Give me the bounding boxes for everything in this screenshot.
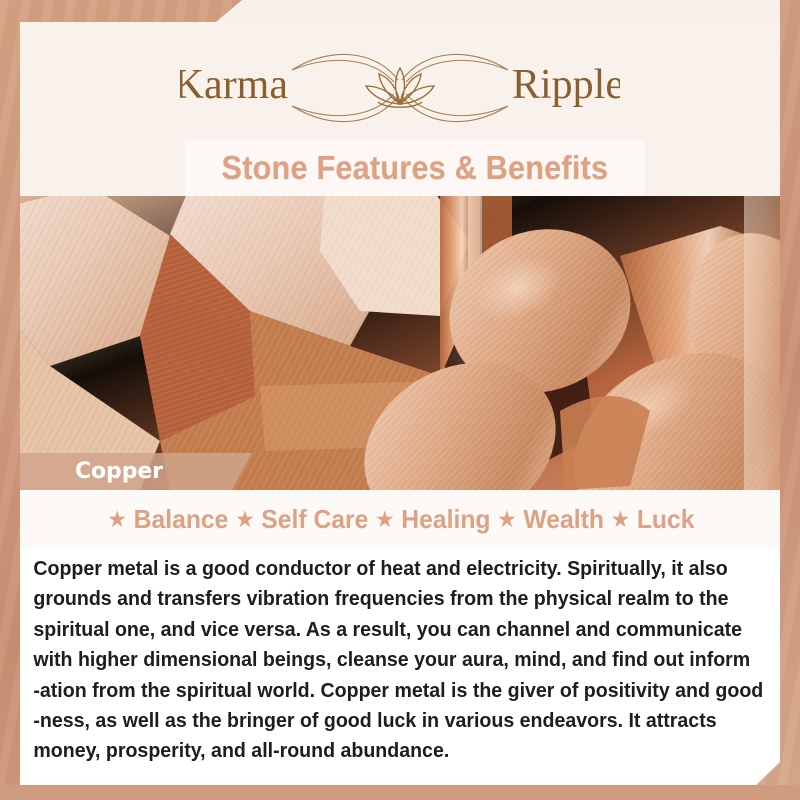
feature-healing: Healing (398, 504, 493, 535)
star-icon: ★ (493, 508, 520, 531)
brand-logo: Karma Ripple (20, 38, 780, 138)
lotus-icon (366, 68, 434, 107)
description-line: with higher dimensional beings, cleanse … (33, 645, 734, 675)
star-icon: ★ (371, 508, 398, 531)
star-icon: ★ (231, 508, 258, 531)
description-line: -ness, as well as the bringer of good lu… (33, 706, 734, 736)
description-line: spiritual one, and vice versa. As a resu… (33, 615, 734, 645)
flourish-ornament (292, 54, 508, 121)
feature-wealth: Wealth (520, 504, 606, 535)
content-card: Karma Ripple Stone Features & Benefits (20, 0, 780, 785)
description-line: money, prosperity, and all-round abundan… (33, 736, 734, 766)
brand-name-left: Karma (180, 62, 288, 108)
copper-photo-svg (20, 196, 780, 490)
brand-name-right: Ripple (512, 62, 620, 108)
title-banner: Stone Features & Benefits (185, 140, 645, 196)
features-strip: ★ Balance ★ Self Care ★ Healing ★ Wealth… (20, 490, 780, 548)
page-title: Stone Features & Benefits (222, 149, 609, 187)
bottom-accent-band (0, 785, 800, 800)
features-list: ★ Balance ★ Self Care ★ Healing ★ Wealth… (103, 504, 697, 535)
feature-self-care: Self Care (258, 504, 371, 535)
description-line: Copper metal is a good conductor of heat… (33, 554, 734, 584)
description-text: Copper metal is a good conductor of heat… (20, 548, 746, 767)
photo-caption-banner: Copper (20, 453, 252, 490)
feature-balance: Balance (130, 504, 230, 535)
photo-caption-label: Copper (75, 459, 163, 484)
description-line: -ation from the spiritual world. Copper … (33, 676, 734, 706)
star-icon: ★ (606, 508, 633, 531)
description-line: grounds and transfers vibration frequenc… (33, 584, 734, 614)
copper-photo: Copper (20, 196, 780, 490)
logo-svg: Karma Ripple (180, 40, 620, 136)
description-section: Copper metal is a good conductor of heat… (20, 548, 780, 785)
star-icon: ★ (103, 508, 130, 531)
feature-luck: Luck (634, 504, 697, 535)
